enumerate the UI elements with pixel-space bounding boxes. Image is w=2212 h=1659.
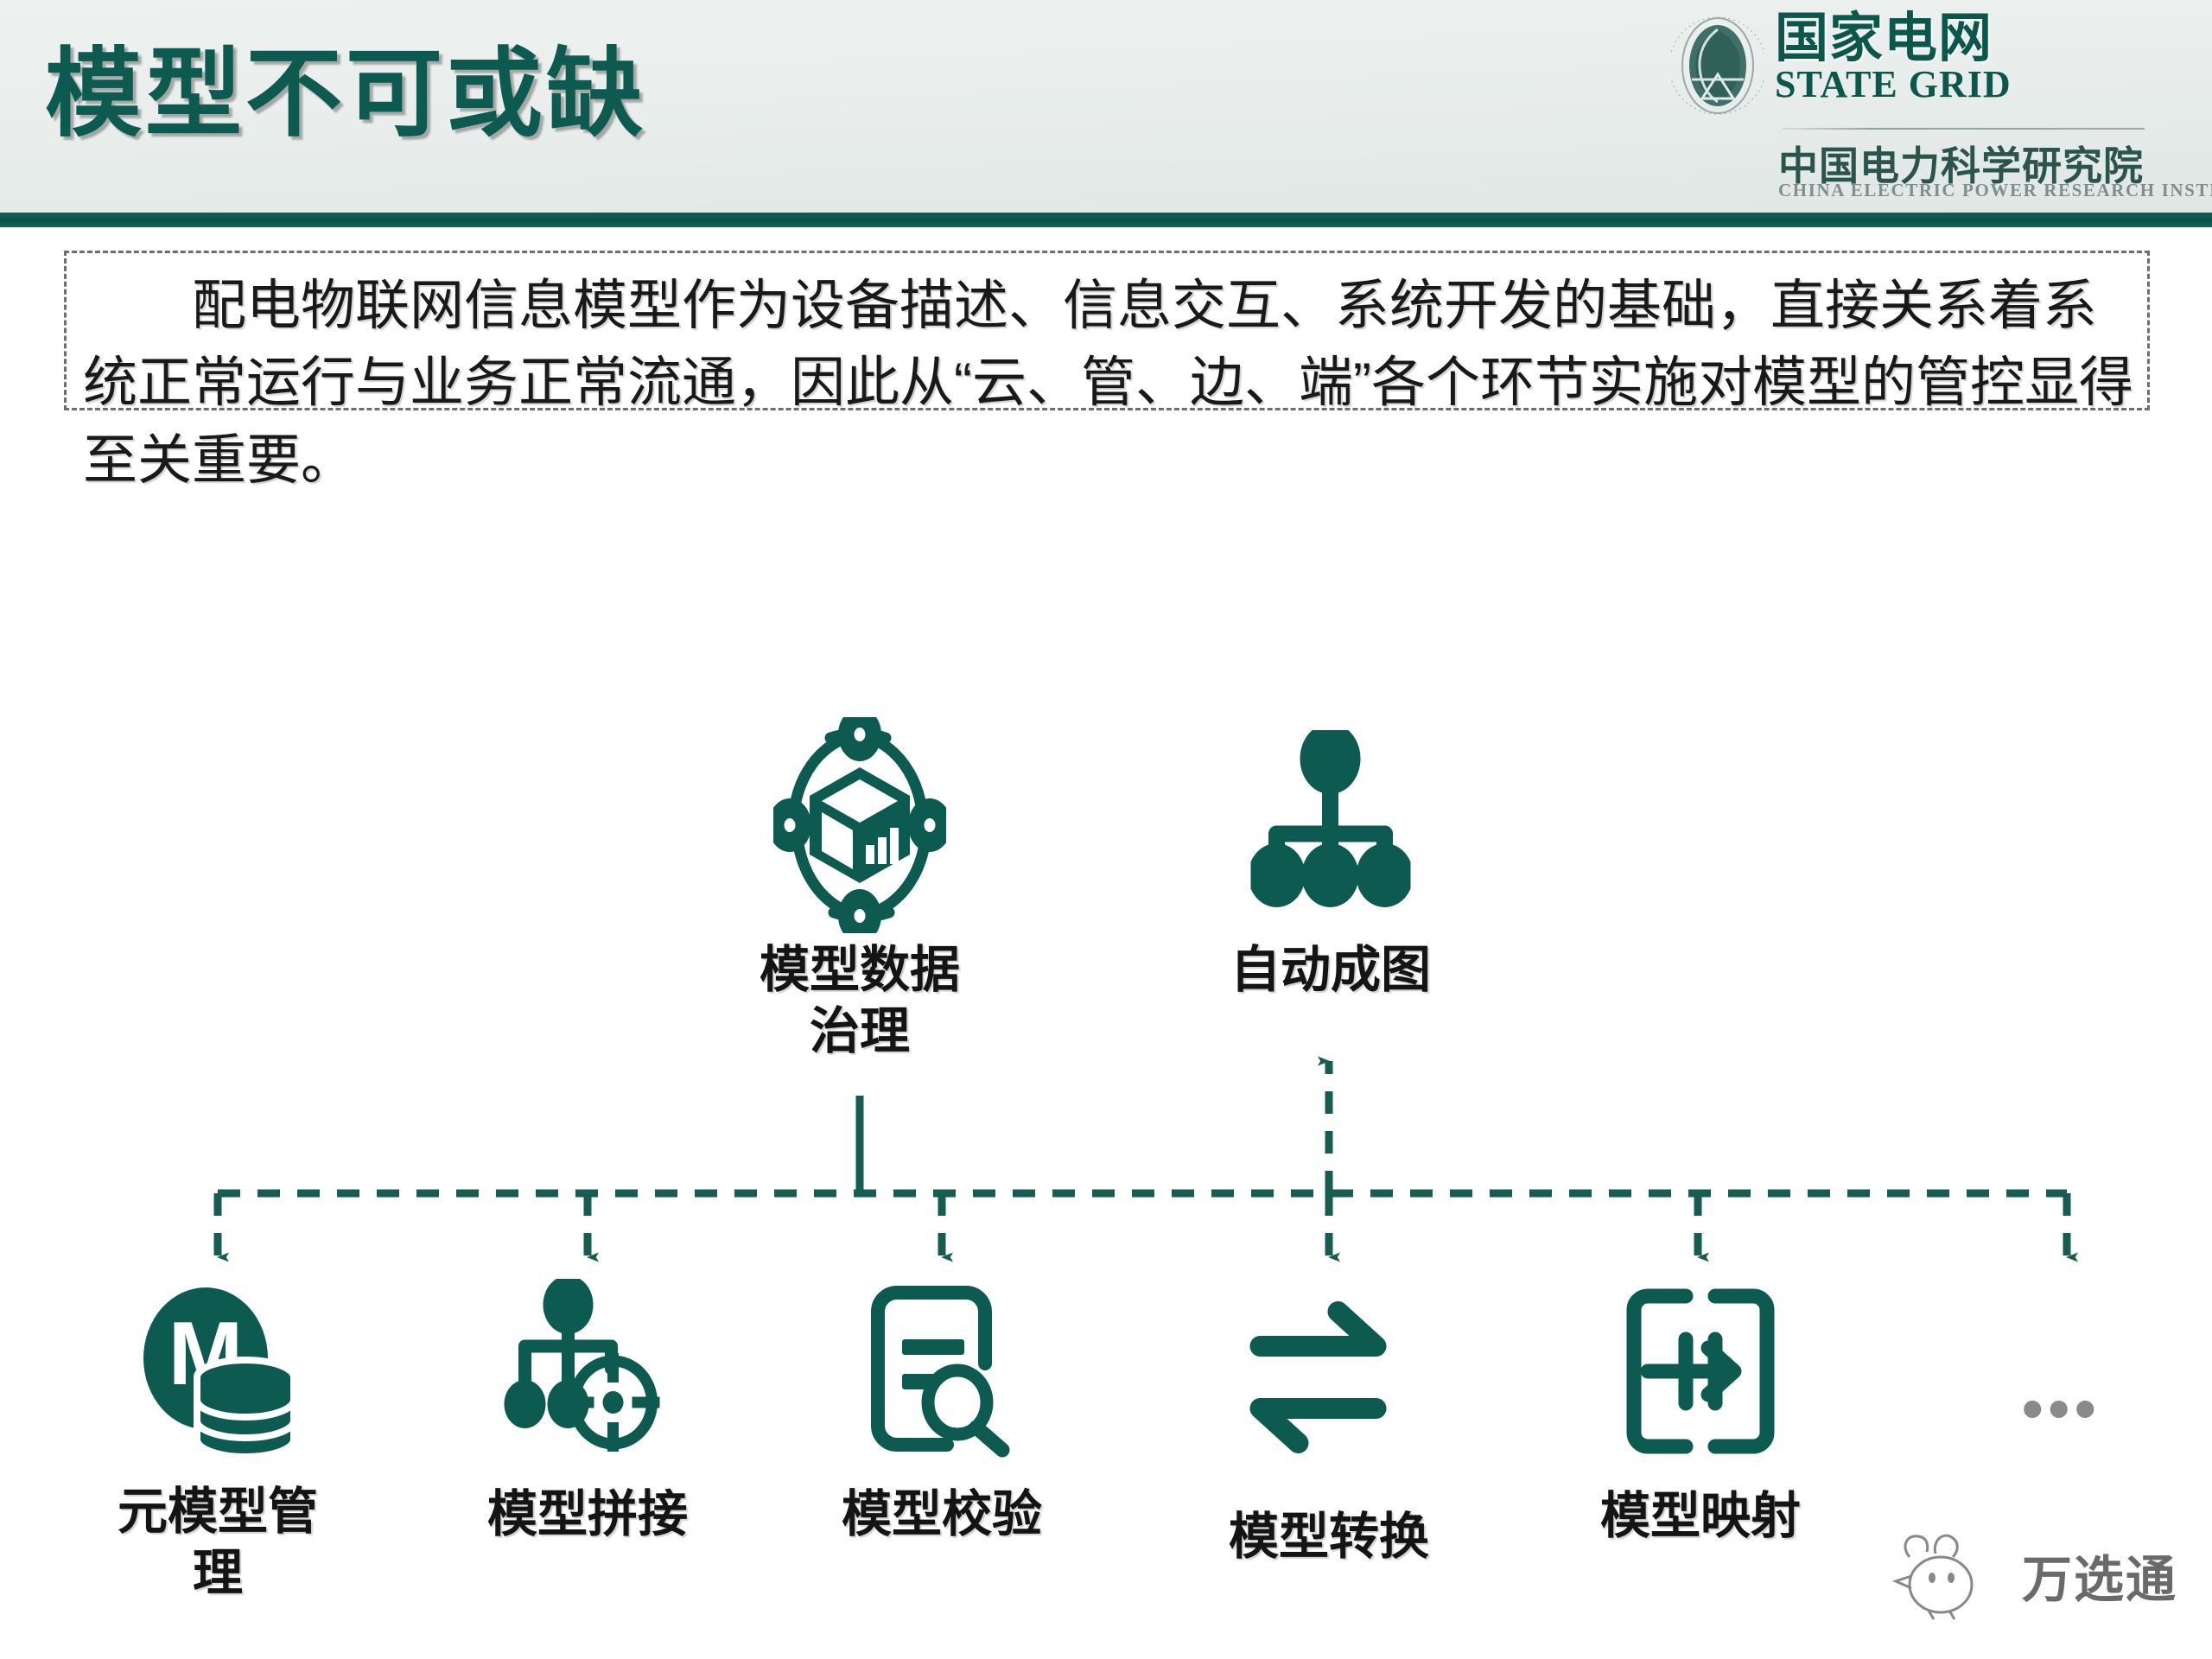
node-label: 模型转换 xyxy=(1229,1507,1429,1568)
node-label: 模型拼接 xyxy=(487,1484,688,1546)
document-search-icon xyxy=(864,1277,1020,1463)
ellipsis-icon: ••• xyxy=(2022,1378,2101,1439)
watermark: 万选通 xyxy=(1877,1528,2177,1623)
node-label: 模型数据 自动成图 xyxy=(1230,940,1431,1001)
cube-network-analytics-icon xyxy=(773,717,946,933)
node-label: 模型数据 治理 xyxy=(760,940,960,1063)
bracket-arrow-icon xyxy=(1618,1279,1783,1465)
chick-mascot-icon xyxy=(1877,1528,2006,1623)
watermark-text: 万选通 xyxy=(2022,1539,2177,1611)
tree-target-icon xyxy=(499,1279,677,1465)
model-governance-diagram: 模型数据 治理 模型数据 自动成图 xyxy=(0,0,2212,1659)
m-database-icon: M xyxy=(131,1279,304,1465)
connector-network xyxy=(0,0,2212,1659)
node-label: 模型校验 xyxy=(842,1484,1042,1546)
node-label: 元模型管 理 xyxy=(88,1482,347,1605)
node-label: 模型映射 xyxy=(1600,1486,1801,1548)
hierarchy-tree-icon xyxy=(1251,730,1411,907)
exchange-arrows-icon xyxy=(1245,1296,1414,1460)
